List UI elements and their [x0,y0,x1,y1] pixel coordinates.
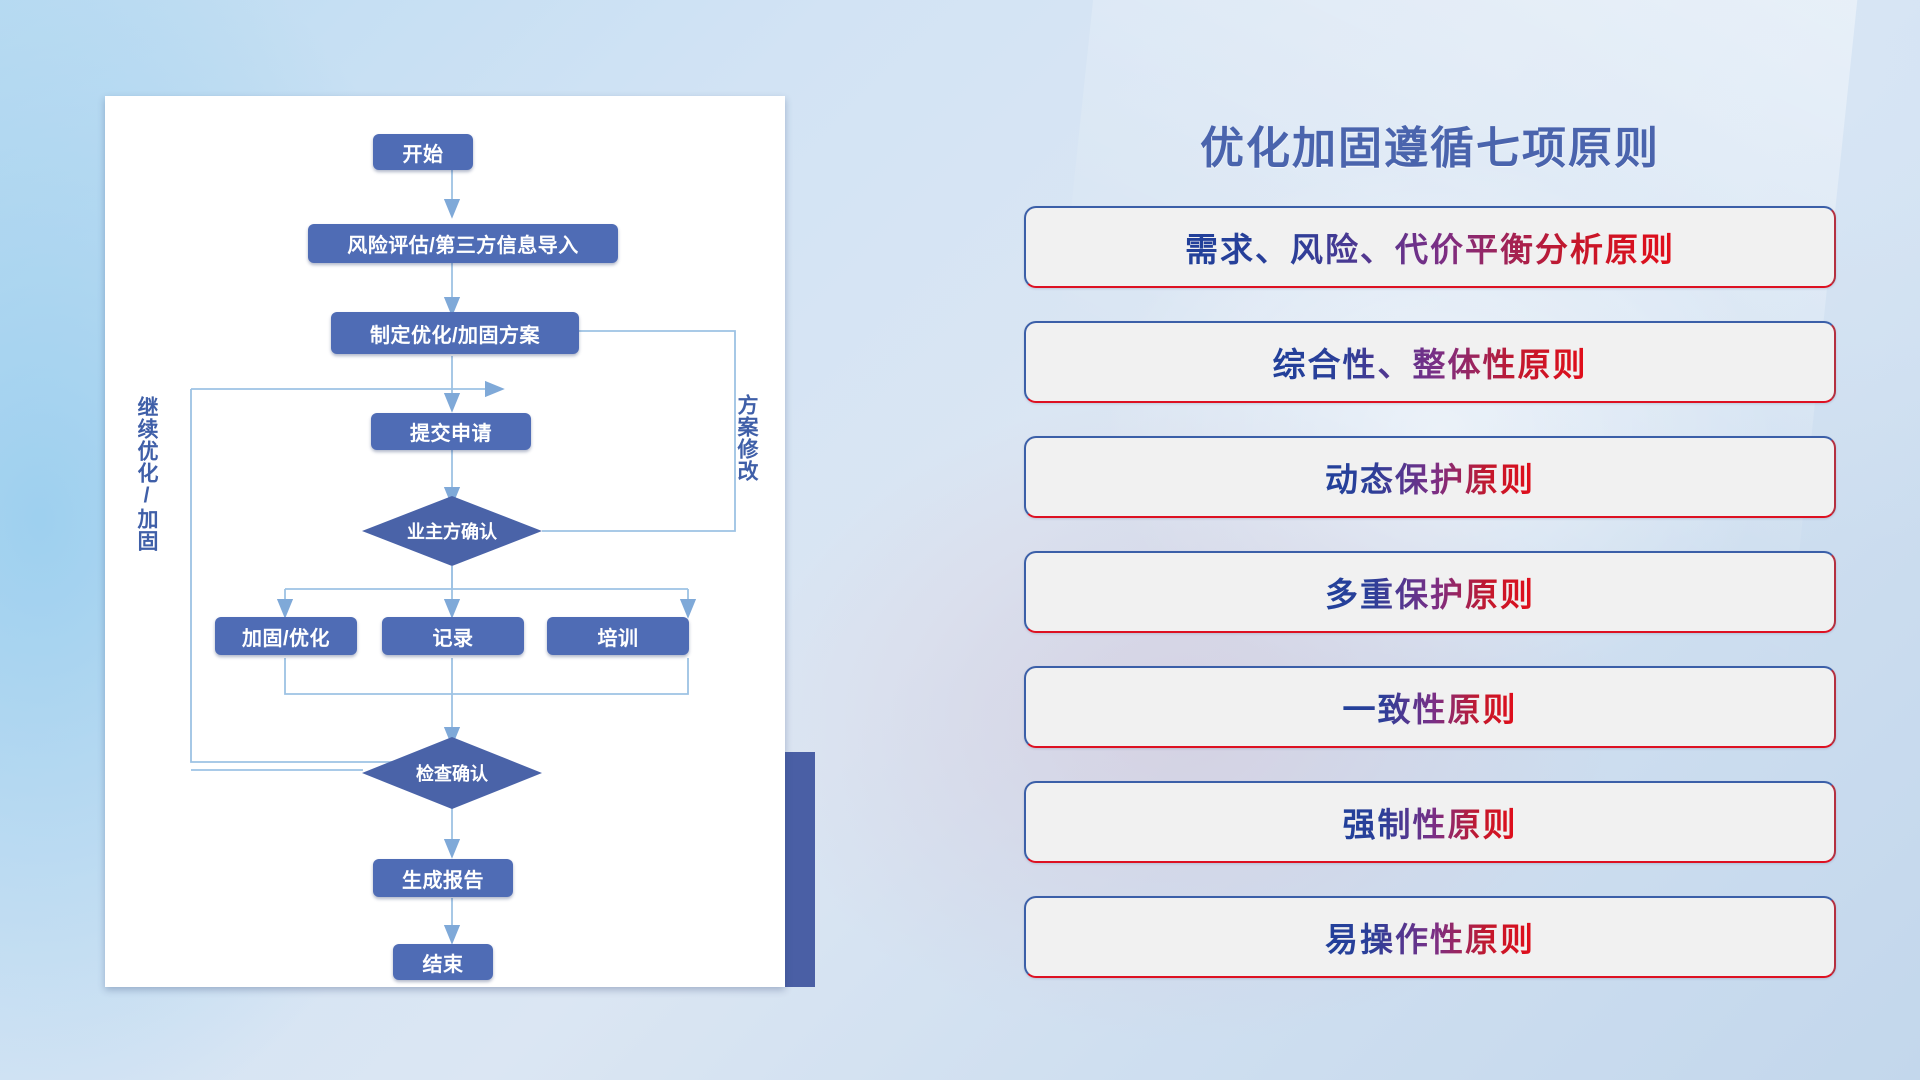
flow-node-label: 检查确认 [416,760,488,786]
principle-label: 易操作性原则 [1325,913,1535,961]
flow-node-label: 加固/优化 [242,622,330,651]
principle-card-7[interactable]: 易操作性原则 [1024,896,1836,978]
principle-card-3[interactable]: 动态保护原则 [1024,436,1836,518]
principle-label: 需求、风险、代价平衡分析原则 [1185,223,1675,271]
flow-node-generate-report[interactable]: 生成报告 [373,859,513,897]
flowchart-card: 开始 风险评估/第三方信息导入 制定优化/加固方案 提交申请 业主方确认 加固/… [105,96,785,987]
principle-label: 综合性、整体性原则 [1273,338,1588,386]
flow-node-start[interactable]: 开始 [373,134,473,170]
flow-node-check-confirm[interactable]: 检查确认 [362,737,542,809]
flow-node-label: 风险评估/第三方信息导入 [347,229,579,258]
principle-card-4[interactable]: 多重保护原则 [1024,551,1836,633]
principle-card-2[interactable]: 综合性、整体性原则 [1024,321,1836,403]
flow-node-reinforce[interactable]: 加固/优化 [215,617,357,655]
flow-label-continue-optimize: 继续优化/加固 [135,396,157,552]
principles-panel: 优化加固遵循七项原则 需求、风险、代价平衡分析原则 综合性、整体性原则 动态保护… [1010,96,1850,1016]
flow-node-label: 生成报告 [402,864,484,893]
flow-node-plan[interactable]: 制定优化/加固方案 [331,312,579,354]
flow-node-submit-application[interactable]: 提交申请 [371,413,531,450]
flow-node-label: 培训 [598,622,639,651]
flow-node-label: 记录 [433,622,474,651]
flow-node-label: 业主方确认 [407,518,497,544]
flow-node-owner-confirm[interactable]: 业主方确认 [362,496,542,566]
flow-label-plan-revision: 方案修改 [735,394,757,482]
flow-node-label: 开始 [403,138,444,167]
principle-label: 强制性原则 [1343,798,1518,846]
flow-node-record[interactable]: 记录 [382,617,524,655]
principle-card-1[interactable]: 需求、风险、代价平衡分析原则 [1024,206,1836,288]
flow-node-training[interactable]: 培训 [547,617,689,655]
flow-node-end[interactable]: 结束 [393,944,493,980]
side-label-text: 方案修改 [735,394,758,482]
flow-node-label: 制定优化/加固方案 [370,319,540,348]
page-title: 优化加固遵循七项原则 [1010,112,1850,176]
principle-label: 动态保护原则 [1325,453,1535,501]
flow-node-risk-assessment[interactable]: 风险评估/第三方信息导入 [308,224,618,263]
flow-node-label: 结束 [423,948,464,977]
principle-card-6[interactable]: 强制性原则 [1024,781,1836,863]
flow-node-label: 提交申请 [410,417,492,446]
principle-label: 多重保护原则 [1325,568,1535,616]
principle-label: 一致性原则 [1343,683,1518,731]
side-label-text: 继续优化/加固 [135,396,158,552]
principle-card-5[interactable]: 一致性原则 [1024,666,1836,748]
